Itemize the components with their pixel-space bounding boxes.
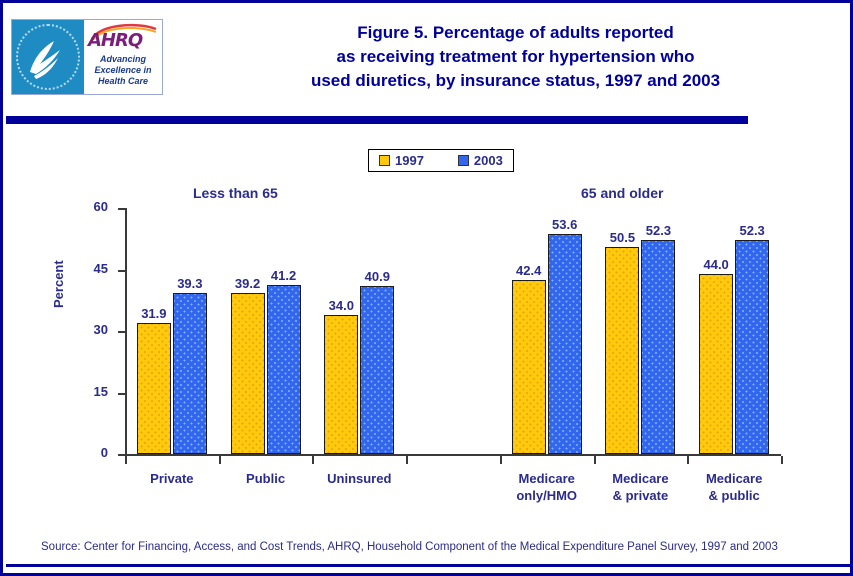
y-axis-line: [125, 208, 127, 456]
ahrq-tagline: Advancing Excellence in Health Care: [84, 54, 162, 87]
x-axis-tick: [219, 456, 221, 464]
y-axis-tick: 15: [118, 393, 125, 395]
figure-page: AHRQ Advancing Excellence in Health Care…: [0, 0, 853, 576]
bar-value-label: 53.6: [539, 217, 591, 232]
ahrq-wordmark-area: AHRQ Advancing Excellence in Health Care: [84, 20, 162, 94]
chart-plot-area: 015304560 31.939.339.241.234.040.942.453…: [125, 208, 781, 456]
x-axis-tick: [594, 456, 596, 464]
bar-1997-medicare-only-hmo: [512, 280, 546, 454]
legend-item-2003: 2003: [458, 153, 503, 168]
legend-swatch-2003: [458, 155, 469, 166]
footer-divider: [6, 564, 853, 567]
legend-label-2003: 2003: [474, 153, 503, 168]
bar-value-label: 52.3: [726, 223, 778, 238]
ahrq-tagline-line-2: Excellence in: [84, 65, 162, 76]
x-axis-tick: [312, 456, 314, 464]
x-axis-tick: [406, 456, 408, 464]
bar-2003-public: [267, 285, 301, 454]
figure-header: AHRQ Advancing Excellence in Health Care…: [3, 3, 850, 110]
y-axis-tick: 30: [118, 331, 125, 333]
y-axis-tick-label: 15: [94, 384, 108, 399]
group-header-under-65: Less than 65: [193, 185, 278, 201]
figure-title: Figure 5. Percentage of adults reported …: [203, 21, 828, 93]
bar-2003-medicare-only-hmo: [548, 234, 582, 454]
x-axis-category-label: Uninsured: [299, 470, 419, 487]
bar-1997-public: [231, 293, 265, 454]
bar-value-label: 52.3: [632, 223, 684, 238]
ahrq-logo: AHRQ Advancing Excellence in Health Care: [11, 19, 163, 95]
bar-value-label: 39.3: [164, 276, 216, 291]
source-note: Source: Center for Financing, Access, an…: [41, 540, 816, 555]
bar-2003-uninsured: [360, 286, 394, 454]
hhs-seal-icon: [12, 20, 84, 94]
x-axis-tick: [687, 456, 689, 464]
chart-legend: 1997 2003: [368, 149, 514, 172]
ahrq-wordmark: AHRQ: [88, 32, 160, 50]
bar-2003-medicare---public: [735, 240, 769, 454]
bar-2003-medicare---private: [641, 240, 675, 454]
ahrq-tagline-line-3: Health Care: [84, 76, 162, 87]
y-axis-title: Percent: [51, 260, 66, 308]
y-axis-tick: 60: [118, 208, 125, 210]
legend-label-1997: 1997: [395, 153, 424, 168]
ahrq-tagline-line-1: Advancing: [84, 54, 162, 65]
group-header-65-and-older: 65 and older: [581, 185, 663, 201]
bar-1997-medicare---private: [605, 247, 639, 454]
bar-value-label: 41.2: [258, 268, 310, 283]
x-axis-tick: [781, 456, 783, 464]
bar-1997-uninsured: [324, 315, 358, 454]
legend-item-1997: 1997: [379, 153, 424, 168]
x-axis-category-label: Medicare & public: [674, 470, 794, 504]
y-axis-tick-label: 0: [101, 445, 108, 460]
x-axis-tick: [125, 456, 127, 464]
bar-1997-private: [137, 323, 171, 454]
bar-value-label: 40.9: [351, 269, 403, 284]
x-axis-line: [125, 454, 781, 456]
bar-1997-medicare---public: [699, 274, 733, 454]
header-divider: [6, 116, 748, 124]
hhs-bird-icon: [24, 32, 72, 82]
bar-2003-private: [173, 293, 207, 454]
y-axis-tick-label: 60: [94, 199, 108, 214]
legend-swatch-1997: [379, 155, 390, 166]
y-axis-tick: 0: [118, 454, 125, 456]
figure-title-line-2: as receiving treatment for hypertension …: [203, 45, 828, 69]
y-axis-tick-label: 30: [94, 322, 108, 337]
y-axis-tick-label: 45: [94, 261, 108, 276]
y-axis-tick: 45: [118, 270, 125, 272]
figure-title-line-3: used diuretics, by insurance status, 199…: [203, 69, 828, 93]
x-axis-tick: [500, 456, 502, 464]
figure-title-line-1: Figure 5. Percentage of adults reported: [203, 21, 828, 45]
